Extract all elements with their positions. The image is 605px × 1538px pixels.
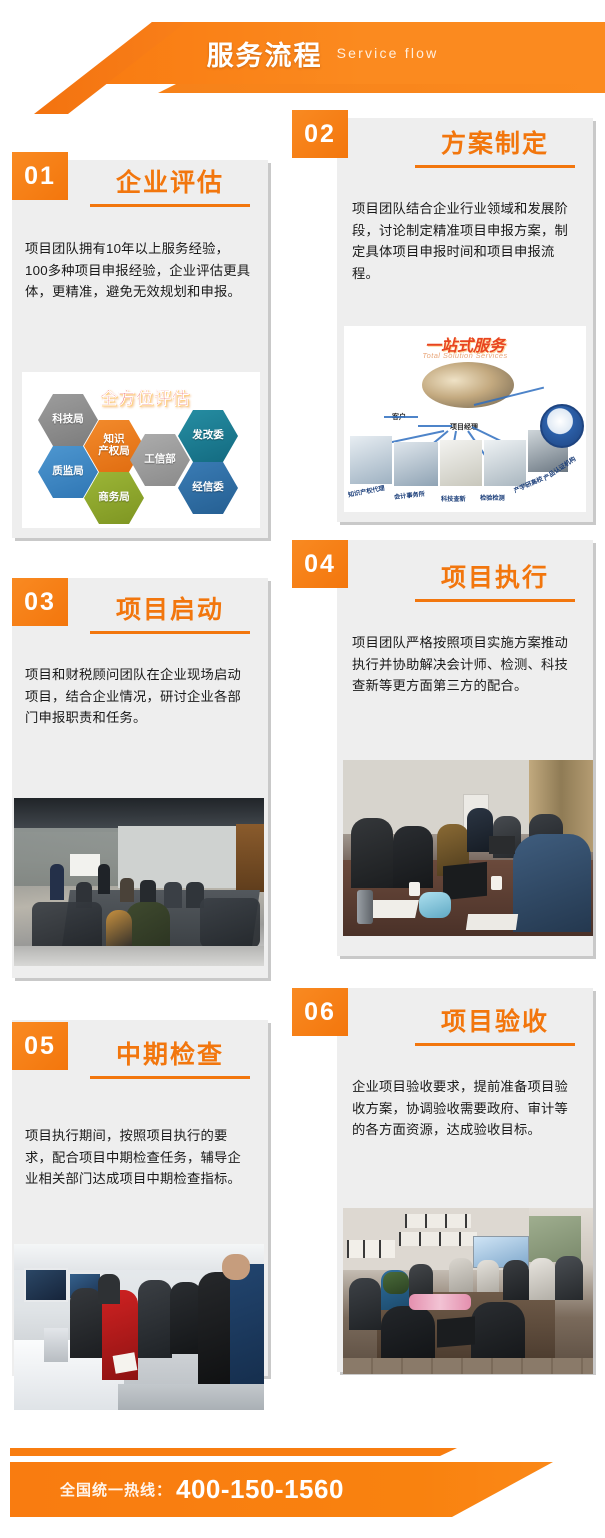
photo-laptop-open (437, 1316, 475, 1347)
photo-person-right-front (513, 834, 591, 932)
photo-whiteboard (70, 854, 100, 876)
footer-accent-line (10, 1448, 595, 1456)
card-06-body: 企业项目验收要求，提前准备项目验收方案，协调验收需要政府、审计等的各方面资源，达… (352, 1076, 578, 1141)
page-title: 服务流程 (207, 34, 323, 73)
oss-caption-novelty: 科技查新 (441, 494, 466, 503)
page-subtitle: Service flow (337, 45, 439, 61)
photo-person-e (164, 882, 182, 908)
photo-laptop-1 (443, 862, 487, 901)
card-05-body: 项目执行期间，按照项目执行的要求，配合项目中期检查任务，辅导企业相关部门达成项目… (25, 1125, 251, 1190)
oss-node-testing (484, 440, 526, 486)
page-header: 服务流程 Service flow (0, 0, 605, 108)
card-04-number-badge: 04 (292, 540, 348, 588)
oss-certification-seal (540, 404, 584, 448)
photo-visitor-3 (138, 1280, 172, 1358)
card-05-number-badge: 05 (12, 1022, 68, 1070)
card-06-header: 项目验收 (405, 1002, 585, 1046)
card-03-number: 03 (24, 588, 56, 617)
photo-attendee-8 (555, 1256, 583, 1300)
photo-person-b (98, 864, 110, 894)
photo-wall-wood (236, 824, 264, 892)
photo-cup-1 (409, 882, 420, 896)
card-04-number: 04 (304, 550, 336, 579)
card-02-title-rule (415, 165, 575, 168)
oss-subtitle: Total Solution Services (344, 351, 586, 360)
photo-person-c (120, 878, 134, 902)
card-02-number-badge: 02 (292, 110, 348, 158)
card-02-header: 方案制定 (405, 124, 585, 168)
photo-attendee-1 (349, 1278, 381, 1330)
photo-attendee-6 (503, 1260, 529, 1300)
footer-hotline-number[interactable]: 400-150-1560 (176, 1474, 344, 1505)
photo-flowers (409, 1294, 471, 1310)
photo-person-left-1 (351, 818, 393, 888)
photo-thermos (357, 890, 373, 924)
photo-wall-white (118, 826, 238, 888)
card-01-title-rule (90, 204, 250, 207)
photo-papers-2 (466, 914, 518, 930)
oss-arrow-2 (418, 425, 452, 427)
assessment-hexagon-graphic: 全方位评估 科技局 知识 产权局 质监局 工信部 商务局 发改委 经信委 (22, 372, 260, 528)
hex-node-fagai: 发改委 (178, 410, 238, 462)
photo-certificates-left (347, 1240, 395, 1258)
photo-papers (369, 900, 419, 918)
oss-node-novelty (440, 440, 482, 486)
page-footer: 全国统一热线： 400-150-1560 (0, 1404, 605, 1538)
photo-person-left-2 (393, 826, 433, 888)
card-03-title: 项目启动 (80, 590, 260, 626)
assessment-graphic-title: 全方位评估 (100, 384, 190, 409)
card-06-number-badge: 06 (292, 988, 348, 1036)
photo-certificates-row2 (399, 1232, 477, 1246)
hex-node-jingxin: 经信委 (178, 462, 238, 514)
oss-node-ip (350, 436, 392, 484)
card-05-photo (14, 1244, 264, 1410)
photo-tile-floor (343, 1358, 593, 1374)
oss-arrow-1 (384, 416, 418, 418)
photo-attendee-7 (529, 1258, 555, 1300)
photo-person-orange (106, 910, 132, 950)
one-stop-service-graphic: 一站式服务 Total Solution Services 客户 项目经理 知识… (344, 326, 586, 512)
card-01-header: 企业评估 (80, 163, 260, 207)
photo-plants (383, 1272, 409, 1294)
photo-display-screen-1 (24, 1268, 68, 1302)
photo-person-d (140, 880, 156, 904)
card-06-title-rule (415, 1043, 575, 1046)
photo-cup-2 (491, 876, 502, 890)
card-03-photo (14, 798, 264, 966)
photo-floor (14, 946, 264, 966)
photo-laptop-2 (489, 836, 515, 854)
card-04-title-rule (415, 599, 575, 602)
card-06-title: 项目验收 (405, 1002, 585, 1038)
card-06-number: 06 (304, 998, 336, 1027)
footer-hotline-label: 全国统一热线： (60, 1479, 172, 1500)
photo-attendee-5 (477, 1260, 499, 1292)
oss-caption-testing: 检验检测 (480, 493, 505, 502)
card-01-number-badge: 01 (12, 152, 68, 200)
card-01-body: 项目团队拥有10年以上服务经验，100多种项目申报经验，企业评估更具体，更精准，… (25, 238, 251, 303)
photo-counter-device (44, 1328, 68, 1362)
photo-attendee-4 (449, 1258, 473, 1292)
card-03-header: 项目启动 (80, 590, 260, 634)
photo-visitor-2 (98, 1274, 120, 1304)
card-02-number: 02 (304, 120, 336, 149)
card-02-body: 项目团队结合企业行业领域和发展阶段，讨论制定精准项目申报方案，制定具体项目申报时… (352, 198, 578, 284)
card-05-title: 中期检查 (80, 1035, 260, 1071)
card-01-title: 企业评估 (80, 163, 260, 199)
card-04-body: 项目团队严格按照项目实施方案推动执行并协助解决会计师、检测、科技查新等更方面第三… (352, 632, 578, 697)
card-05-title-rule (90, 1076, 250, 1079)
card-01-number: 01 (24, 162, 56, 191)
oss-center-photo (422, 362, 514, 408)
photo-brochure (113, 1352, 138, 1374)
card-03-body: 项目和财税顾问团队在企业现场启动项目，结合企业情况，研讨企业各部门申报职责和任务… (25, 664, 251, 729)
photo-bag (419, 892, 451, 918)
photo-chairs-right (200, 898, 260, 948)
card-05-header: 中期检查 (80, 1035, 260, 1079)
card-06-photo (343, 1208, 593, 1374)
oss-caption-accounting: 会计事务所 (394, 489, 426, 501)
card-03-number-badge: 03 (12, 578, 68, 626)
header-title-group: 服务流程 Service flow (0, 22, 605, 84)
photo-certificates-row1 (405, 1214, 471, 1228)
footer-hotline: 全国统一热线： 400-150-1560 (60, 1462, 344, 1517)
card-04-header: 项目执行 (405, 558, 585, 602)
card-04-title: 项目执行 (405, 558, 585, 594)
photo-person-standing (50, 864, 64, 900)
card-05-number: 05 (24, 1032, 56, 1061)
photo-visitor-head (222, 1254, 250, 1280)
oss-caption-ip: 知识产权代理 (347, 483, 385, 499)
card-03-title-rule (90, 631, 250, 634)
oss-node-accounting (394, 442, 438, 486)
card-04-photo (343, 760, 593, 936)
card-02-title: 方案制定 (405, 124, 585, 160)
